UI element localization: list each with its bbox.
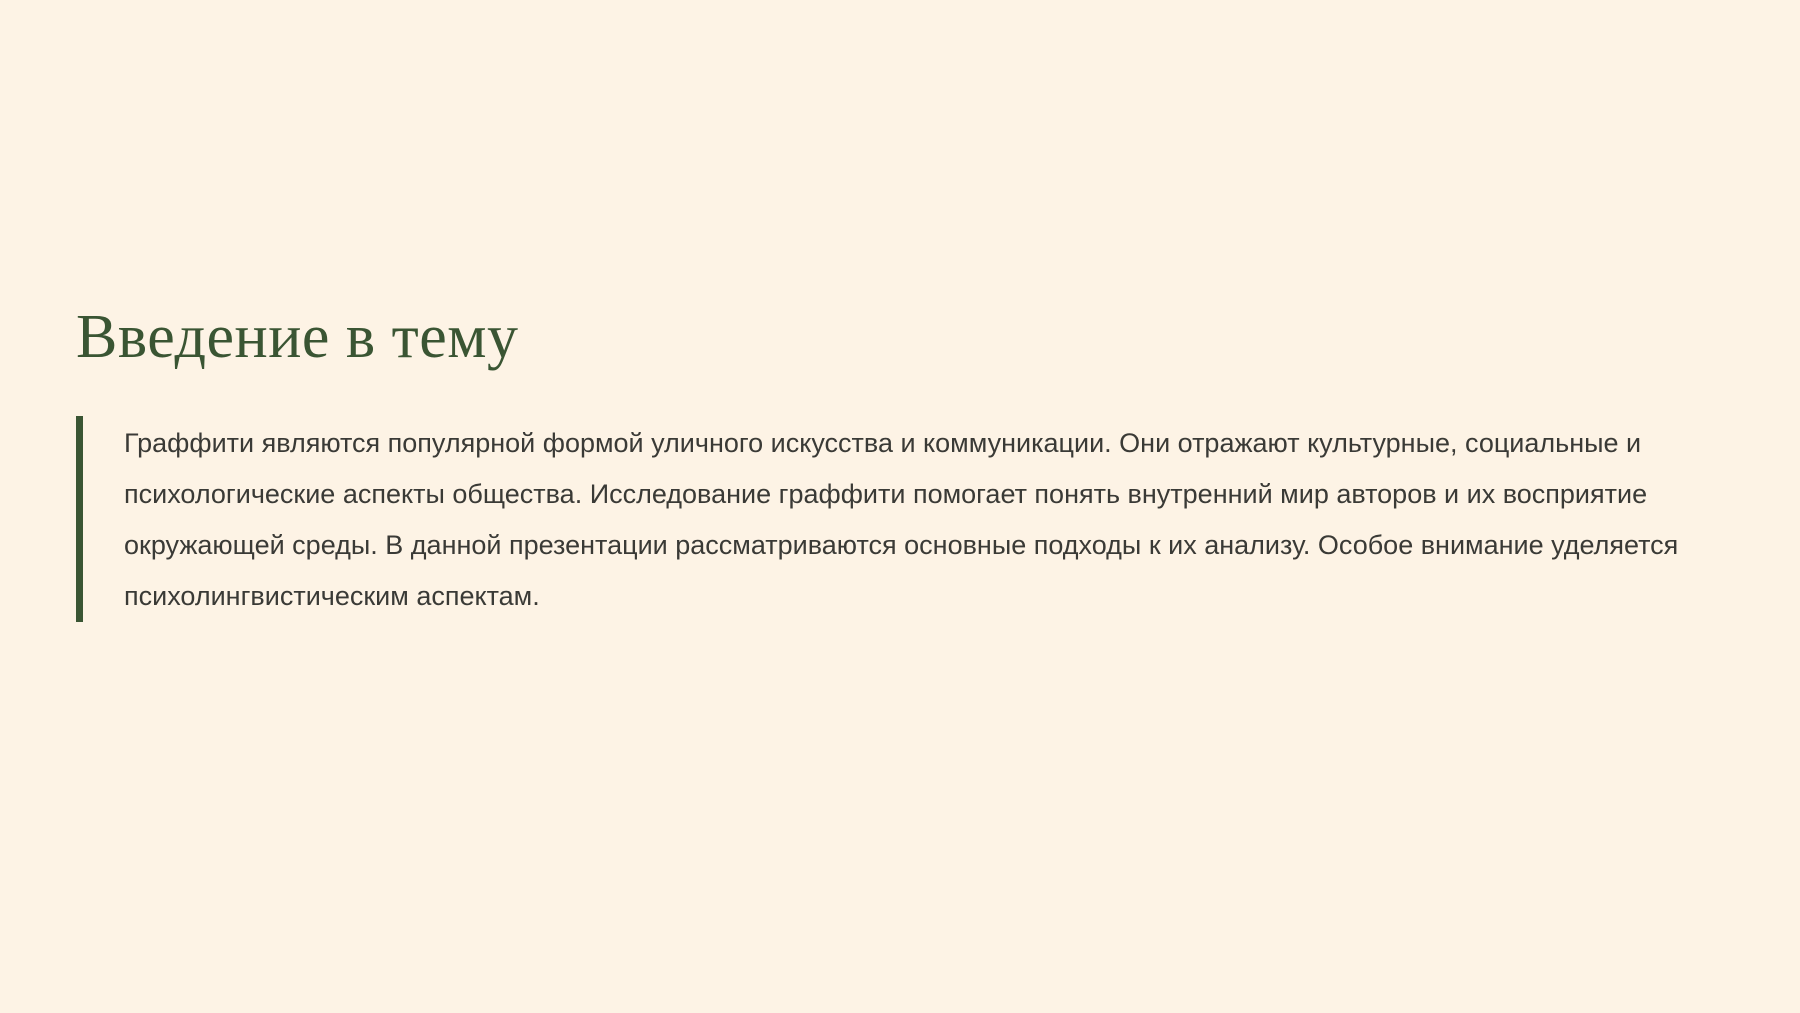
slide-title: Введение в тему [76, 306, 1730, 368]
body-block: Граффити являются популярной формой улич… [76, 416, 1730, 622]
accent-bar [76, 416, 83, 622]
presentation-slide: Введение в тему Граффити являются популя… [0, 0, 1800, 1013]
slide-content: Введение в тему Граффити являются популя… [76, 306, 1730, 622]
slide-body-paragraph: Граффити являются популярной формой улич… [124, 416, 1730, 622]
